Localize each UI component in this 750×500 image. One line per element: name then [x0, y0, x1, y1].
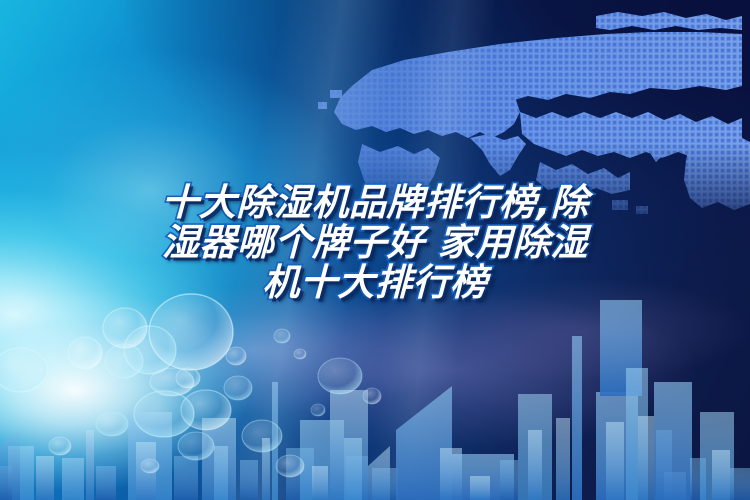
floating-bubbles-graphic — [0, 270, 480, 500]
banner-image: 十大除湿机品牌排行榜,除 湿器哪个牌子好 家用除湿 机十大排行榜 — [0, 0, 750, 500]
